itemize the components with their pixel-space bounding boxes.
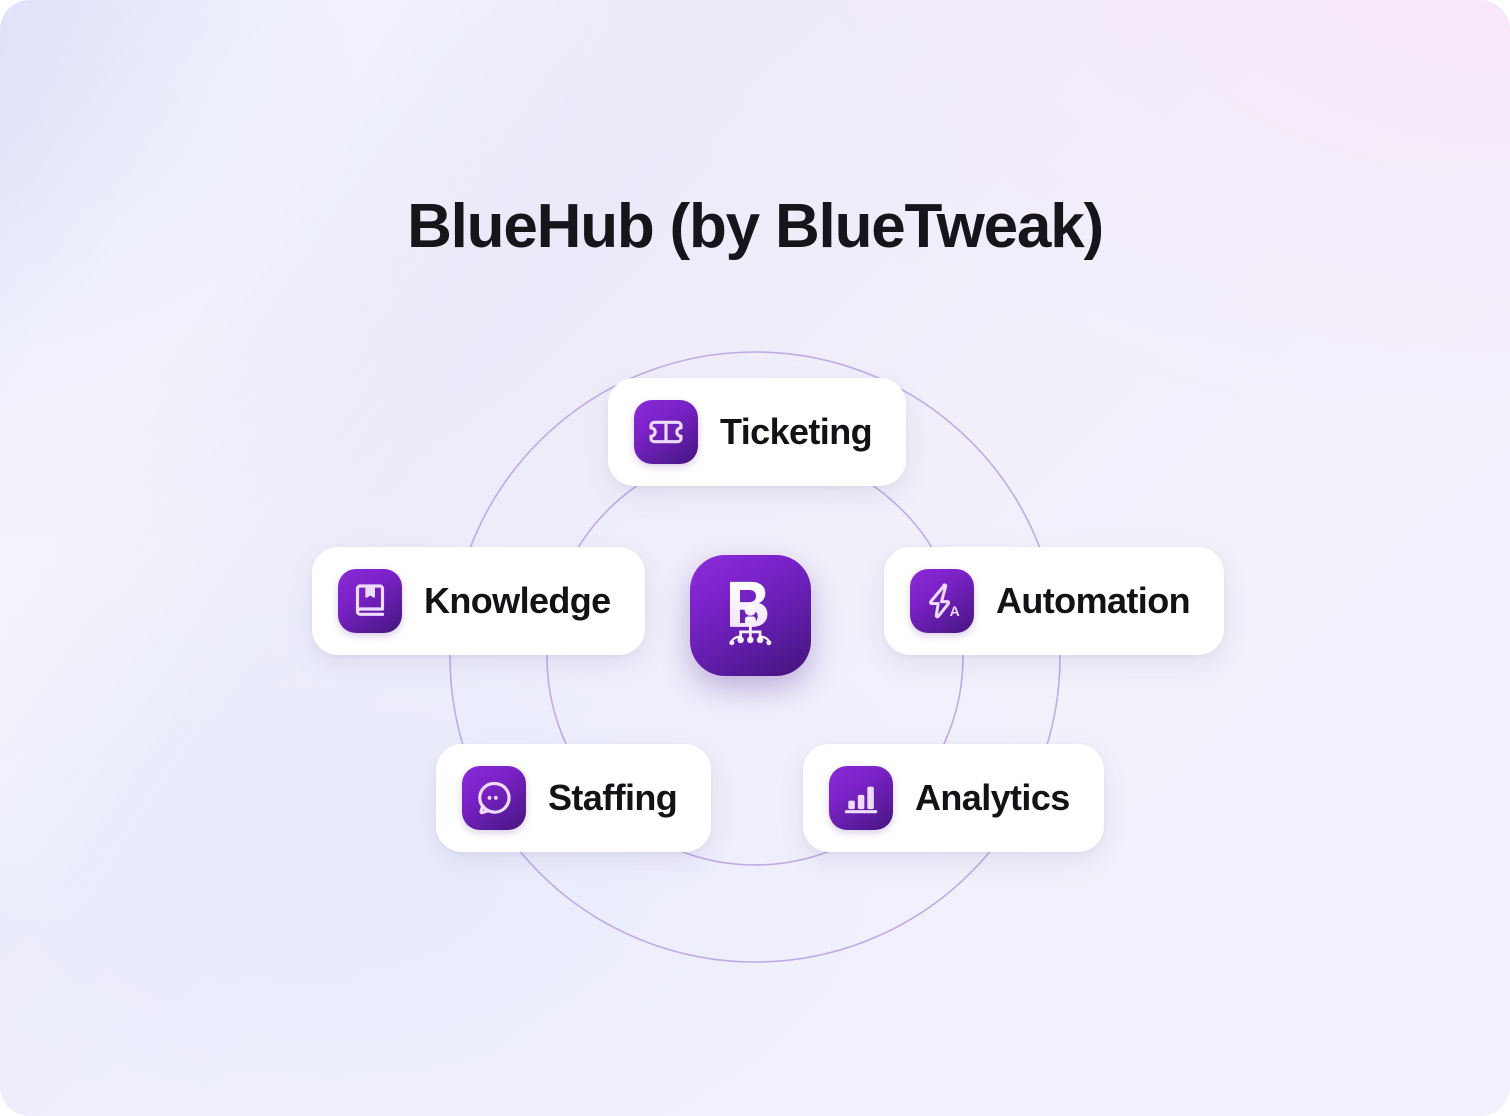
hub-card-label: Analytics (915, 776, 1070, 820)
book-icon (338, 569, 402, 633)
hub-card-label: Knowledge (424, 579, 611, 623)
bar-chart-icon (829, 766, 893, 830)
b-network-person-icon (709, 574, 793, 658)
hub-card-label: Ticketing (720, 410, 872, 454)
lightning-a-icon: A (910, 569, 974, 633)
ticket-icon (634, 400, 698, 464)
bluehub-logo[interactable] (690, 555, 811, 676)
hub-card-automation[interactable]: A Automation (884, 547, 1224, 655)
hub-card-staffing[interactable]: Staffing (436, 744, 711, 852)
hub-card-knowledge[interactable]: Knowledge (312, 547, 645, 655)
hub-card-label: Automation (996, 579, 1190, 623)
hub-diagram: Ticketing Knowledge A Automation (0, 0, 1510, 1116)
hub-card-analytics[interactable]: Analytics (803, 744, 1104, 852)
chat-bubble-icon (462, 766, 526, 830)
page-canvas: BlueHub (by BlueTweak) Ticketing (0, 0, 1510, 1116)
hub-card-label: Staffing (548, 776, 677, 820)
svg-text:A: A (950, 603, 960, 619)
hub-card-ticketing[interactable]: Ticketing (608, 378, 906, 486)
